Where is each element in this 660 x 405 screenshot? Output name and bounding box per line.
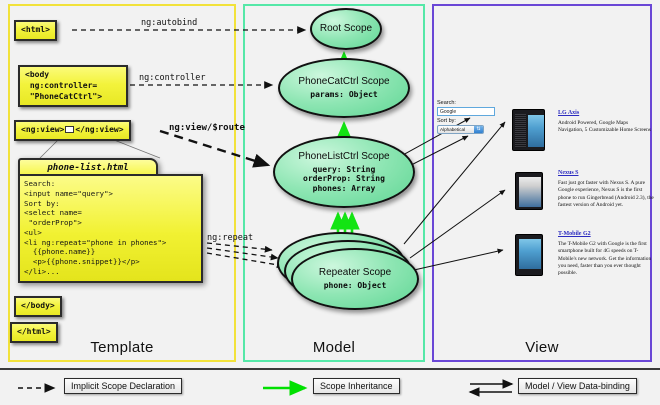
sort-select[interactable]: Alphabetical ⇅: [437, 125, 484, 134]
panel-model-label: Model: [245, 339, 423, 356]
legend-item-databinding: Model / View Data-binding: [518, 378, 637, 394]
phone-thumbnail-icon: [512, 109, 545, 151]
template-file-code: Search: <input name="query"> Sort by: <s…: [18, 174, 203, 283]
connector-label-ng-view-route: ng:view/$route: [169, 123, 245, 133]
ngview-close-tag: </ng:view>: [75, 125, 123, 134]
body-close-tag: </body>: [14, 296, 62, 317]
scope-root: Root Scope: [310, 8, 382, 50]
scope-repeater: Repeater Scope phone: Object: [291, 248, 419, 310]
scope-phonelistctrl-props: query: String orderProp: String phones: …: [303, 165, 385, 194]
html-open-tag: <html>: [14, 20, 57, 41]
connector-label-ng-repeat: ng:repeat: [207, 233, 253, 243]
sort-label: Sort by:: [437, 118, 495, 124]
html-close-tag: </html>: [10, 322, 58, 343]
legend-label-inheritance: Scope Inheritance: [313, 378, 400, 394]
legend-item-inheritance: Scope Inheritance: [313, 378, 400, 394]
chevron-updown-icon: ⇅: [474, 126, 483, 133]
phone-thumbnail-icon: [515, 172, 543, 210]
sort-select-value: Alphabetical: [438, 126, 474, 133]
phone-name-link[interactable]: Nexus S: [558, 170, 579, 176]
scope-phonelistctrl: PhoneListCtrl Scope query: String orderP…: [273, 136, 415, 208]
phone-snippet: Android Powered, Google Maps Navigation,…: [558, 120, 654, 135]
phone-name-link[interactable]: T-Mobile G2: [558, 231, 591, 237]
connector-label-ng-autobind: ng:autobind: [141, 18, 197, 28]
panel-view-label: View: [434, 339, 650, 356]
scope-phonelistctrl-name: PhoneListCtrl Scope: [298, 151, 389, 162]
phone-thumbnail-icon: [515, 234, 543, 276]
search-input[interactable]: [437, 107, 495, 116]
scope-phonecatctrl: PhoneCatCtrl Scope params: Object: [278, 58, 410, 118]
template-file-callout: phone-list.html Search: <input name="que…: [18, 158, 203, 283]
scope-repeater-props: phone: Object: [324, 281, 387, 291]
phone-name-link[interactable]: LG Axis: [558, 110, 579, 116]
search-label: Search:: [437, 100, 495, 106]
ngview-open-tag: <ng:view>: [21, 125, 64, 134]
connector-label-ng-controller: ng:controller: [139, 73, 206, 83]
legend-label-implicit: Implicit Scope Declaration: [64, 378, 182, 394]
phone-snippet: Fast just got faster with Nexus S. A pur…: [558, 180, 654, 209]
scope-repeater-name: Repeater Scope: [319, 267, 391, 278]
legend-label-databinding: Model / View Data-binding: [518, 378, 637, 394]
diagram-canvas: Template Model View: [0, 0, 660, 405]
view-search-widget: Search: Sort by: Alphabetical ⇅: [437, 100, 495, 134]
body-open-tag: <body ng:controller= "PhoneCatCtrl">: [18, 65, 128, 107]
scope-phonecatctrl-props: params: Object: [310, 90, 377, 100]
ngview-slot-icon: [65, 126, 74, 133]
template-file-name: phone-list.html: [18, 158, 158, 175]
scope-root-name: Root Scope: [320, 23, 372, 34]
ngview-element: <ng:view></ng:view>: [14, 120, 131, 141]
scope-phonecatctrl-name: PhoneCatCtrl Scope: [298, 76, 389, 87]
legend-item-implicit: Implicit Scope Declaration: [64, 378, 182, 394]
phone-snippet: The T-Mobile G2 with Google is the first…: [558, 241, 654, 277]
legend: Implicit Scope Declaration Scope Inherit…: [0, 368, 660, 405]
